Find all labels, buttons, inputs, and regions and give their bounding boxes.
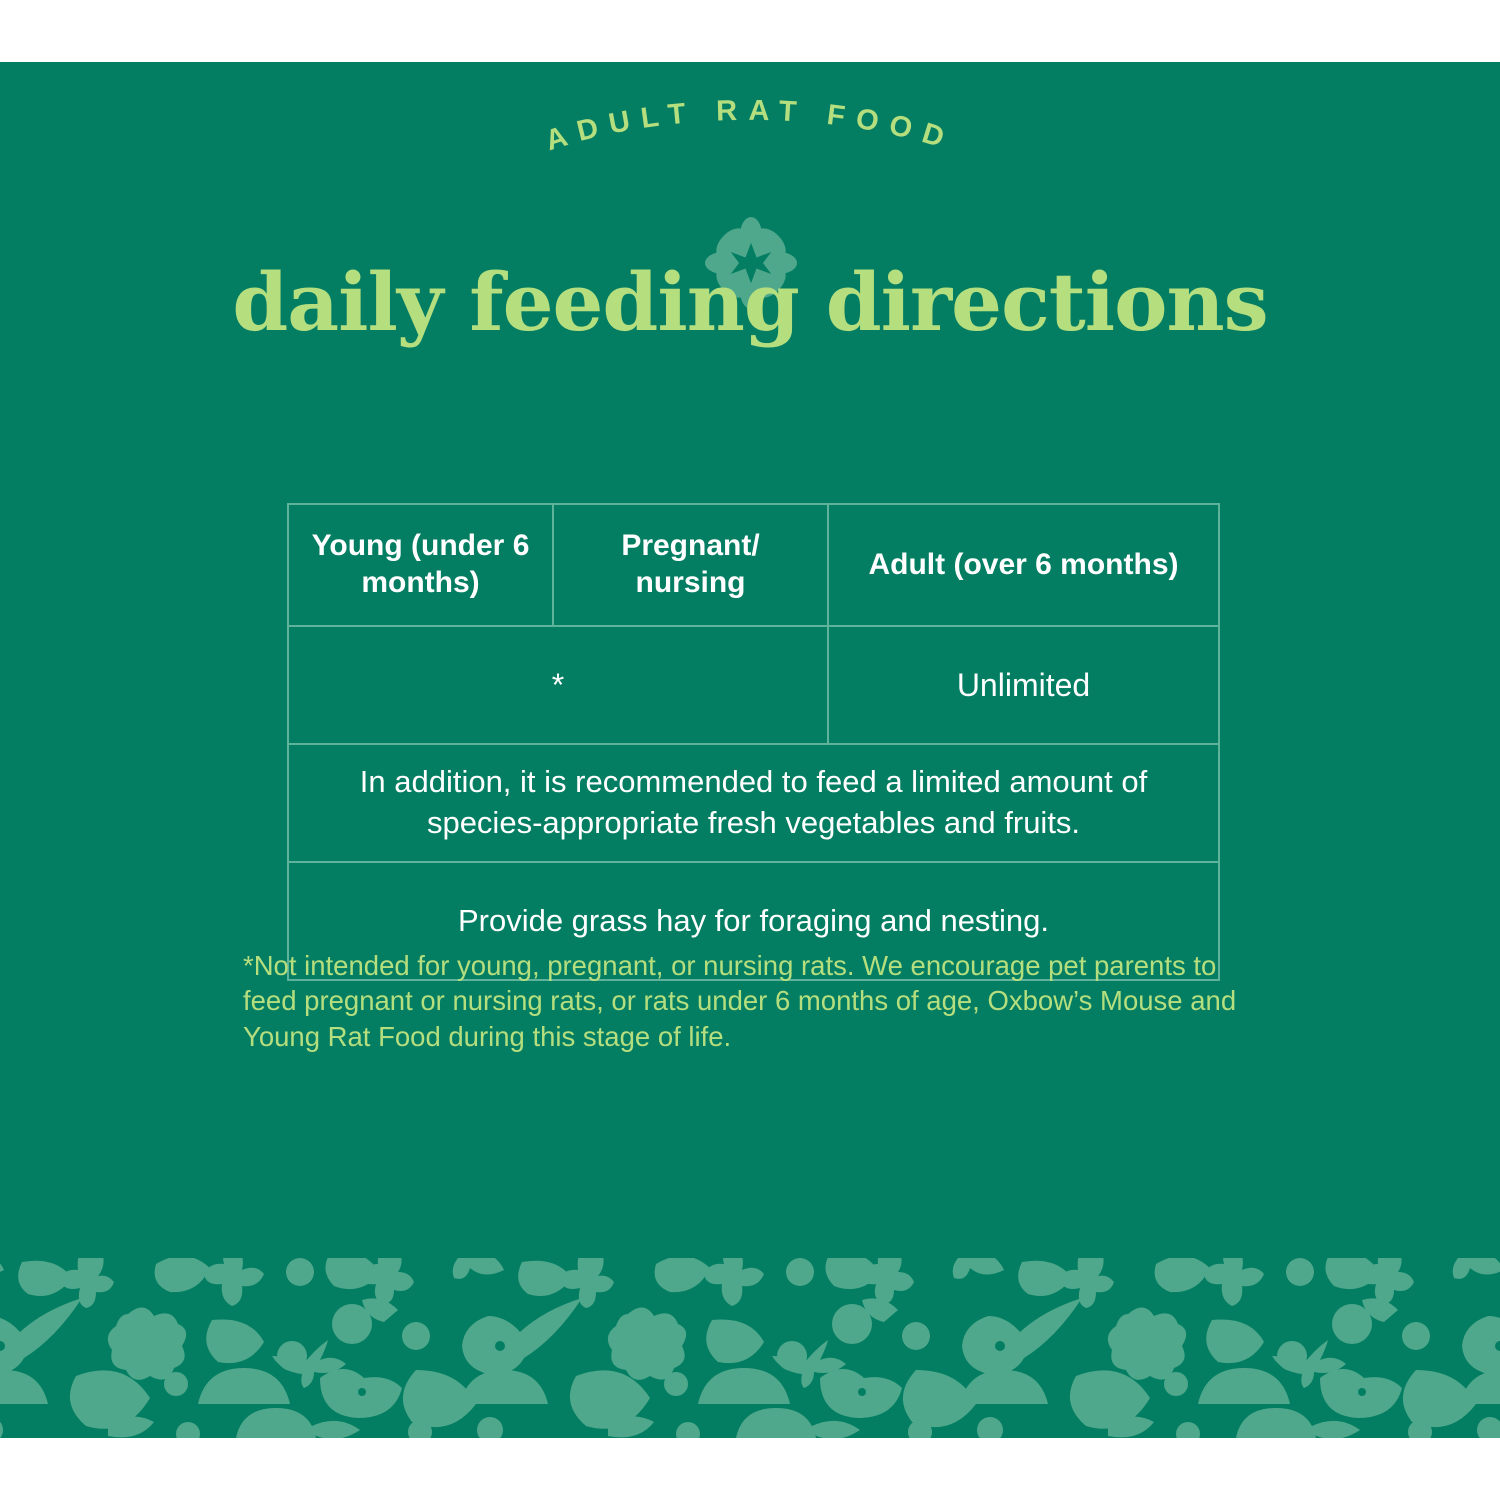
- page-title: daily feeding directions: [0, 262, 1500, 342]
- table-cell-young-pregnant-amount: *: [288, 626, 828, 744]
- svg-text:ADULT RAT FOOD: ADULT RAT FOOD: [542, 95, 959, 158]
- feeding-directions-table: Young (under 6 months) Pregnant/ nursing…: [287, 503, 1220, 981]
- table-header-pregnant-nursing: Pregnant/ nursing: [553, 504, 828, 626]
- botanical-pattern-band: [0, 1258, 1500, 1438]
- table-row-note-vegetables: In addition, it is recommended to feed a…: [288, 744, 1219, 862]
- table-note-vegetables: In addition, it is recommended to feed a…: [288, 744, 1219, 862]
- table-header-young: Young (under 6 months): [288, 504, 553, 626]
- table-row-amounts: * Unlimited: [288, 626, 1219, 744]
- poster-page: ADULT RAT FOOD: [0, 0, 1500, 1500]
- green-panel: ADULT RAT FOOD: [0, 62, 1500, 1438]
- table-header-adult: Adult (over 6 months): [828, 504, 1219, 626]
- table-cell-adult-amount: Unlimited: [828, 626, 1219, 744]
- footnote-text: *Not intended for young, pregnant, or nu…: [243, 948, 1243, 1054]
- table-row-headers: Young (under 6 months) Pregnant/ nursing…: [288, 504, 1219, 626]
- eyebrow-text: ADULT RAT FOOD: [542, 95, 959, 158]
- arched-eyebrow: ADULT RAT FOOD: [0, 62, 1500, 202]
